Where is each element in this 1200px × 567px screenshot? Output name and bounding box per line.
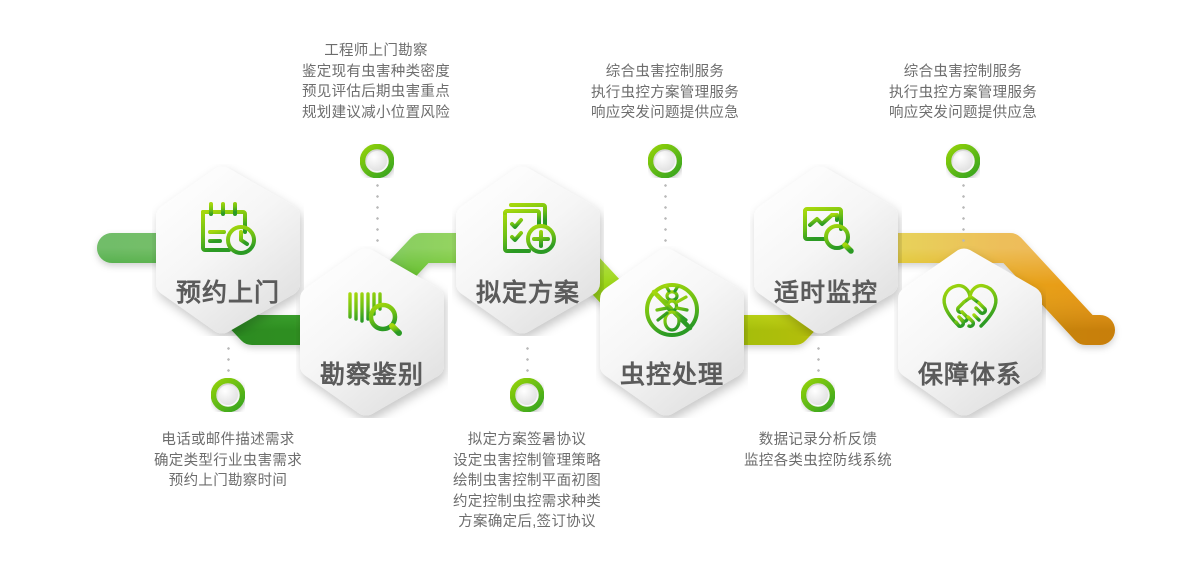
step-label-5: 适时监控 (750, 281, 902, 306)
caption-line: 约定控制虫控需求种类 (409, 492, 645, 513)
caption-line: 监控各类虫控防线系统 (700, 451, 936, 472)
step-label-4: 虫控处理 (596, 363, 748, 388)
connector-ring-1[interactable] (211, 378, 245, 412)
step-caption-6: 综合虫害控制服务 执行虫控方案管理服务 响应突发问题提供应急 (845, 62, 1081, 124)
step-hexagon-3[interactable]: 拟定方案 (452, 164, 604, 336)
caption-line: 确定类型行业虫害需求 (110, 451, 346, 472)
step-caption-2: 工程师上门勘察 鉴定现有虫害种类密度 预见评估后期虫害重点 规划建议减小位置风险 (258, 41, 494, 123)
caption-line: 执行虫控方案管理服务 (547, 83, 783, 104)
connector-ring-2[interactable] (360, 144, 394, 178)
connector-ring-3[interactable] (510, 378, 544, 412)
step-hexagon-4[interactable]: 虫控处理 (596, 246, 748, 418)
connector-dotline-2 (376, 180, 379, 242)
caption-line: 执行虫控方案管理服务 (845, 83, 1081, 104)
caption-line: 响应突发问题提供应急 (845, 103, 1081, 124)
caption-line: 鉴定现有虫害种类密度 (258, 62, 494, 83)
connector-ring-5[interactable] (801, 378, 835, 412)
no-pest-icon (596, 274, 748, 346)
caption-line: 方案确定后,签订协议 (409, 512, 645, 533)
caption-line: 综合虫害控制服务 (845, 62, 1081, 83)
caption-line: 电话或邮件描述需求 (110, 430, 346, 451)
step-label-6: 保障体系 (894, 363, 1046, 388)
step-hexagon-2[interactable]: 勘察鉴别 (296, 246, 448, 418)
step-caption-1: 电话或邮件描述需求 确定类型行业虫害需求 预约上门勘察时间 (110, 430, 346, 492)
connector-dotline-4 (664, 180, 667, 242)
step-label-3: 拟定方案 (452, 281, 604, 306)
caption-line: 设定虫害控制管理策略 (409, 451, 645, 472)
step-hexagon-6[interactable]: 保障体系 (894, 246, 1046, 418)
caption-line: 预见评估后期虫害重点 (258, 82, 494, 103)
heart-handshake-icon (894, 274, 1046, 346)
step-hexagon-5[interactable]: 适时监控 (750, 164, 902, 336)
inspection-magnifier-icon (296, 274, 448, 346)
chart-monitor-magnifier-icon (750, 192, 902, 264)
connector-ring-6[interactable] (946, 144, 980, 178)
step-label-2: 勘察鉴别 (296, 363, 448, 388)
step-label-1: 预约上门 (152, 281, 304, 306)
step-hexagon-1[interactable]: 预约上门 (152, 164, 304, 336)
step-caption-3: 拟定方案签暑协议 设定虫害控制管理策略 绘制虫害控制平面初图 约定控制虫控需求种… (409, 430, 645, 533)
caption-line: 数据记录分析反馈 (700, 430, 936, 451)
connector-ring-4[interactable] (648, 144, 682, 178)
caption-line: 响应突发问题提供应急 (547, 103, 783, 124)
caption-line: 预约上门勘察时间 (110, 471, 346, 492)
connector-dotline-6 (962, 180, 965, 242)
step-caption-4: 综合虫害控制服务 执行虫控方案管理服务 响应突发问题提供应急 (547, 62, 783, 124)
caption-line: 拟定方案签暑协议 (409, 430, 645, 451)
caption-line: 规划建议减小位置风险 (258, 103, 494, 124)
process-flow-infographic: 预约上门 勘察鉴别 (0, 0, 1200, 567)
caption-line: 绘制虫害控制平面初图 (409, 471, 645, 492)
checklist-plus-icon (452, 192, 604, 264)
step-caption-5: 数据记录分析反馈 监控各类虫控防线系统 (700, 430, 936, 471)
calendar-clock-icon (152, 192, 304, 264)
caption-line: 综合虫害控制服务 (547, 62, 783, 83)
caption-line: 工程师上门勘察 (258, 41, 494, 62)
